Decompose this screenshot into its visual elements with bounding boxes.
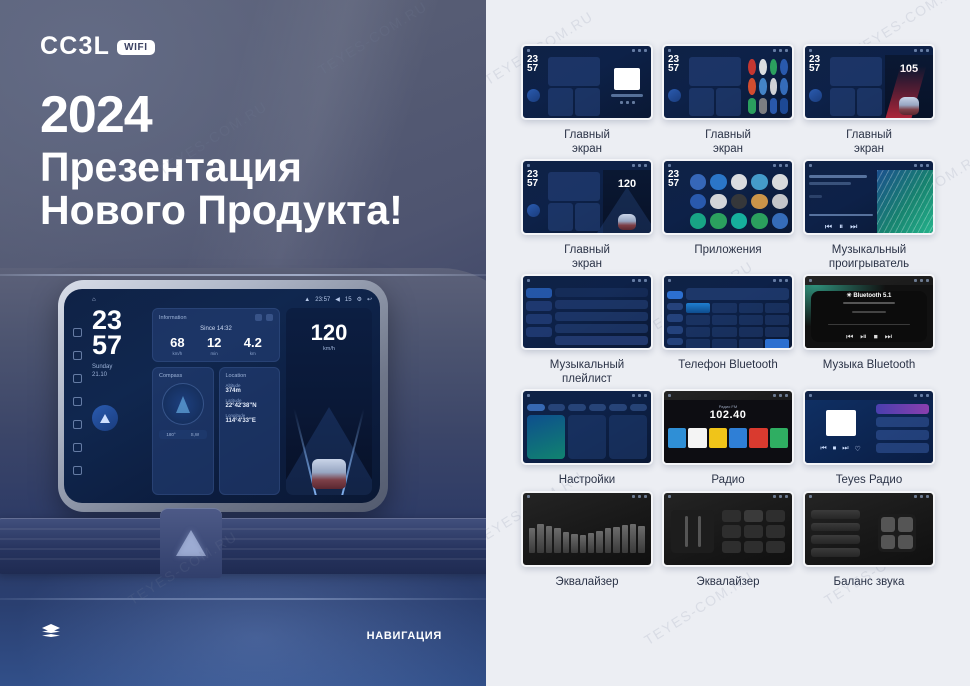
headline-line-1: Презентация xyxy=(40,146,460,190)
hazard-triangle-icon xyxy=(176,530,206,556)
headline-line-2: Нового Продукта! xyxy=(40,189,460,233)
thumb-clock-m: 57 xyxy=(527,179,545,188)
power-icon[interactable] xyxy=(73,374,82,383)
screen-side-buttons[interactable] xyxy=(64,289,90,503)
back-arrow-icon[interactable]: ↩ xyxy=(367,296,372,303)
compass-needle-icon xyxy=(176,396,190,413)
gallery-cell: ✳ Bluetooth 5.1 ⏮ ⏯ ⏹ ⏭ Муз xyxy=(803,274,935,386)
layers-icon xyxy=(42,624,60,640)
stat-time: 12 min xyxy=(207,336,221,356)
status-bar: ⌂ ▲ 23:57 ◀ 15 ⚙ ↩ xyxy=(92,296,372,303)
stat-speed: 68 km/h xyxy=(170,336,184,356)
cell-label: Музыкальныйплейлист xyxy=(550,359,624,386)
next-icon[interactable]: ⏭ xyxy=(842,445,848,453)
next-icon[interactable]: ⏭ xyxy=(850,222,857,232)
back-icon[interactable] xyxy=(73,420,82,429)
gallery-rows: 2357 Главныйэкран 2357 xyxy=(486,44,970,593)
navigation-arrow-icon xyxy=(100,414,110,423)
gallery-cell: Эквалайзер xyxy=(521,491,653,590)
gallery-cell: 2357 Приложения xyxy=(662,159,794,271)
gallery-cell: Настройки xyxy=(521,389,653,488)
thumb-clock-m: 57 xyxy=(668,179,686,188)
thumbnail-home-road[interactable]: 2357 105 xyxy=(803,44,935,120)
hero-panel: CC3L WIFI 2024 Презентация Нового Продук… xyxy=(0,0,486,686)
stat-distance: 4.2 km xyxy=(244,336,262,356)
trip-expand-icon[interactable] xyxy=(266,314,273,321)
head-unit-screen[interactable]: ⌂ ▲ 23:57 ◀ 15 ⚙ ↩ xyxy=(64,289,380,503)
thumbnail-bluetooth-music[interactable]: ✳ Bluetooth 5.1 ⏮ ⏯ ⏹ ⏭ xyxy=(803,274,935,350)
location-card[interactable]: Location Altitude 374m Latitude 22°42'38… xyxy=(219,367,281,495)
thumbnail-apps-grid[interactable]: 2357 xyxy=(662,159,794,235)
cell-label: Баланс звука xyxy=(834,576,905,590)
bluetooth-version-label: ✳ Bluetooth 5.1 xyxy=(847,292,892,299)
hero-headline: 2024 Презентация Нового Продукта! xyxy=(40,88,460,233)
cell-label: Приложения xyxy=(694,244,761,258)
clock-widget: 23 57 Sunday 21.10 xyxy=(92,308,146,495)
thumb-clock-m: 57 xyxy=(809,64,827,73)
gallery-cell: Телефон Bluetooth xyxy=(662,274,794,386)
presentation-page: CC3L WIFI 2024 Презентация Нового Продук… xyxy=(0,0,970,686)
logo-text: CC3L xyxy=(40,34,110,59)
prev-icon[interactable]: ⏮ xyxy=(846,332,853,342)
status-time: 23:57 xyxy=(315,297,330,303)
clock-minutes: 57 xyxy=(92,333,146,358)
cell-label: Главныйэкран xyxy=(846,129,892,156)
prev-icon[interactable]: ⏮ xyxy=(820,445,826,453)
speed-unit: km/h xyxy=(286,346,372,352)
gallery-cell: Эквалайзер xyxy=(662,491,794,590)
cell-label: Эквалайзер xyxy=(555,576,618,590)
compass-direction: S,W xyxy=(191,432,200,437)
altitude-value: 374m xyxy=(226,388,274,394)
gallery-row: Эквалайзер xyxy=(486,491,970,590)
cell-label: Настройки xyxy=(559,474,615,488)
dashboard-vent xyxy=(0,518,486,574)
volume-down-icon[interactable] xyxy=(73,443,82,452)
headline-year: 2024 xyxy=(40,88,460,144)
cell-label: Главныйэкран xyxy=(564,244,610,271)
thumb-nav-icon xyxy=(527,89,540,102)
thumb-nav-icon xyxy=(527,204,540,217)
car-dashboard: ⌂ ▲ 23:57 ◀ 15 ⚙ ↩ xyxy=(0,268,486,686)
home-icon[interactable] xyxy=(73,397,82,406)
thumbnail-media-player[interactable]: ⏮ ⏸ ⏭ xyxy=(803,159,935,235)
thumbnail-sound-balance[interactable] xyxy=(803,491,935,567)
gallery-row: 2357 Главныйэкран 2357 xyxy=(486,44,970,156)
clock-date: 21.10 xyxy=(92,371,146,379)
stop-icon[interactable]: ⏹ xyxy=(874,332,878,342)
next-icon[interactable]: ⏭ xyxy=(885,332,892,342)
home-indicator-icon[interactable]: ⌂ xyxy=(92,297,96,303)
gallery-cell: Музыкальныйплейлист xyxy=(521,274,653,386)
prev-track-icon[interactable] xyxy=(73,328,82,337)
gallery-cell: 2357 Главныйэкран xyxy=(662,44,794,156)
cell-label: Главныйэкран xyxy=(705,129,751,156)
volume-up-icon[interactable] xyxy=(73,466,82,475)
navigation-button[interactable] xyxy=(92,405,118,431)
thumbnail-home-music[interactable]: 2357 xyxy=(521,44,653,120)
next-track-icon[interactable] xyxy=(73,351,82,360)
information-card[interactable]: Information Since 14:32 xyxy=(152,308,280,362)
radio-frequency: 102.40 xyxy=(668,409,788,421)
stat-time-value: 12 xyxy=(207,336,221,349)
pause-icon[interactable]: ⏸ xyxy=(839,222,843,232)
seat-balance-grid[interactable] xyxy=(878,514,916,552)
prev-icon[interactable]: ⏮ xyxy=(825,222,832,232)
favorite-icon[interactable]: ♡ xyxy=(855,445,861,453)
gallery-cell: 2357 120 Главныйэкран xyxy=(521,159,653,271)
cell-label: Главныйэкран xyxy=(564,129,610,156)
thumbnail-teyes-radio[interactable]: ⏮⏹⏭♡ xyxy=(803,389,935,465)
stat-distance-value: 4.2 xyxy=(244,336,262,349)
gallery-cell: 2357 105 Главныйэкран xyxy=(803,44,935,156)
thumbnail-home-apps[interactable]: 2357 xyxy=(662,44,794,120)
information-title: Information xyxy=(159,315,187,321)
stat-speed-value: 68 xyxy=(170,336,184,349)
hero-footer-label: НАВИГАЦИЯ xyxy=(367,630,442,642)
gallery-cell: 2357 Главныйэкран xyxy=(521,44,653,156)
gallery-cell: Баланс звука xyxy=(803,491,935,590)
play-pause-icon[interactable]: ⏯ xyxy=(860,332,866,342)
gallery-row: Настройки Радио FM 102.40 xyxy=(486,389,970,488)
longitude-value: 114°4'33"E xyxy=(226,418,274,424)
cell-label: Музыка Bluetooth xyxy=(823,359,915,373)
stat-distance-unit: km xyxy=(244,351,262,356)
screenshot-gallery: TEYES-COM.RU TEYES-COM.RU TEYES-COM.RU T… xyxy=(486,0,970,686)
since-label: Since 14:32 xyxy=(159,326,273,332)
product-logo: CC3L WIFI xyxy=(40,34,155,59)
thumbnail-home-speed[interactable]: 2357 120 xyxy=(521,159,653,235)
compass-dial xyxy=(162,383,204,425)
thumb-nav-icon xyxy=(668,89,681,102)
compass-card[interactable]: Compass 180° S,W xyxy=(152,367,214,495)
compass-heading: 180° xyxy=(166,432,175,437)
thumb-nav-icon xyxy=(809,89,822,102)
thumbnail-radio[interactable]: Радио FM 102.40 xyxy=(662,389,794,465)
gallery-cell: ⏮ ⏸ ⏭ Музыкальныйпроигрыватель xyxy=(803,159,935,271)
gallery-cell: Радио FM 102.40 Ради xyxy=(662,389,794,488)
volume-icon: ◀ xyxy=(335,296,340,303)
cell-label: Радио xyxy=(711,474,744,488)
hazard-button[interactable] xyxy=(160,508,222,578)
cell-label: Телефон Bluetooth xyxy=(678,359,778,373)
thumbnail-equalizer-presets[interactable] xyxy=(662,491,794,567)
watermark: TEYES-COM.RU xyxy=(315,0,430,78)
thumbnail-phone-dialer[interactable] xyxy=(662,274,794,350)
gallery-cell: ⏮⏹⏭♡ Teyes Радио xyxy=(803,389,935,488)
compass-title: Compass xyxy=(159,373,182,379)
stop-icon[interactable]: ⏹ xyxy=(833,445,837,453)
latitude-value: 22°42'38"N xyxy=(226,403,274,409)
cell-label: Эквалайзер xyxy=(696,576,759,590)
wifi-icon: ▲ xyxy=(304,297,310,303)
gallery-row: Музыкальныйплейлист xyxy=(486,274,970,386)
speed-value: 120 xyxy=(286,322,372,344)
stat-speed-unit: km/h xyxy=(170,351,184,356)
gallery-row: 2357 120 Главныйэкран xyxy=(486,159,970,271)
clock-day: Sunday xyxy=(92,363,146,371)
thumb-clock-m: 57 xyxy=(668,64,686,73)
layers-logo xyxy=(42,624,60,640)
cell-label: Teyes Радио xyxy=(836,474,902,488)
thumbnail-playlist[interactable] xyxy=(521,274,653,350)
thumb-clock-m: 57 xyxy=(527,64,545,73)
thumbnail-settings[interactable] xyxy=(521,389,653,465)
wifi-badge: WIFI xyxy=(117,40,155,55)
location-title: Location xyxy=(226,373,247,379)
stat-time-unit: min xyxy=(207,351,221,356)
cell-label: Музыкальныйпроигрыватель xyxy=(829,244,909,271)
thumbnail-equalizer-bands[interactable] xyxy=(521,491,653,567)
head-unit-bezel: ⌂ ▲ 23:57 ◀ 15 ⚙ ↩ xyxy=(58,280,388,512)
status-volume: 15 xyxy=(345,297,352,303)
settings-icon[interactable]: ⚙ xyxy=(357,296,362,303)
car-icon xyxy=(312,459,346,489)
speed-panel[interactable]: 120 km/h xyxy=(286,308,372,495)
trip-reset-icon[interactable] xyxy=(255,314,262,321)
